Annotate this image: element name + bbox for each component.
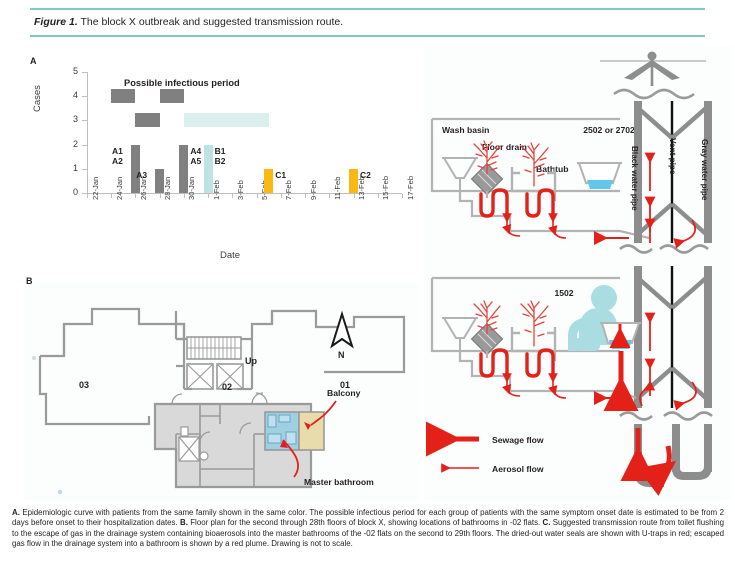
- wall-outline-lower-left: [40, 356, 149, 424]
- x-tick: [208, 194, 209, 198]
- y-tick: [82, 145, 87, 146]
- vent-pipe-label: Vent pipe: [668, 138, 677, 175]
- wash-basin-icon: [442, 158, 478, 191]
- case-bar: [179, 145, 188, 193]
- x-tick: [402, 194, 403, 198]
- title-rule-bottom: [30, 35, 705, 37]
- infectious-period-bar: [160, 89, 184, 103]
- break-squiggle-upper-left: [620, 246, 652, 253]
- infectious-period-bar: [184, 113, 269, 127]
- upper-unit-number: 2502 or 2702: [583, 125, 635, 135]
- y-tick-label: 1: [64, 163, 78, 173]
- aerosol-plume-upper-tub: [521, 143, 548, 186]
- y-axis-title: Cases: [32, 85, 43, 112]
- case-bar: [264, 169, 273, 193]
- wall-outline-upper-right: [252, 311, 404, 372]
- figure-title: Figure 1. The block X outbreak and sugge…: [34, 13, 694, 31]
- flat-label-02: 02: [222, 382, 232, 392]
- stair-up-label: Up: [245, 356, 257, 366]
- x-tick: [329, 194, 330, 198]
- y-tick: [82, 72, 87, 73]
- x-tick: [184, 194, 185, 198]
- caption-tag-a: A.: [12, 508, 20, 517]
- x-tick-label: 15-Feb: [381, 176, 390, 200]
- u-trap-lower-1: [481, 350, 507, 376]
- roof-vent-icon: [600, 52, 706, 99]
- gray-to-vent-aerosol-lower: [680, 382, 696, 404]
- y-tick-label: 0: [64, 187, 78, 197]
- y-axis: [87, 72, 88, 194]
- caption-text-b: Floor plan for the second through 28th f…: [188, 518, 543, 527]
- pipe-stacks: Black water pipe Vent pipe Gray water pi…: [620, 101, 712, 420]
- corner-dot-left: [32, 356, 36, 360]
- y-tick: [82, 169, 87, 170]
- case-bar-label: A1A2: [112, 146, 123, 166]
- north-label: N: [338, 350, 345, 360]
- flat-label-03: 03: [79, 380, 89, 390]
- case-bar: [155, 169, 164, 193]
- x-axis-title: Date: [220, 250, 240, 261]
- floor-plan-svg: Up N: [24, 284, 420, 500]
- x-tick: [378, 194, 379, 198]
- x-tick: [305, 194, 306, 198]
- x-tick: [281, 194, 282, 198]
- x-tick: [135, 194, 136, 198]
- x-tick-label: 28-Jan: [163, 177, 172, 200]
- x-tick-label: 1-Feb: [212, 180, 221, 200]
- figure-number: Figure 1.: [34, 16, 78, 28]
- y-tick: [82, 96, 87, 97]
- corner-dot-bottom: [58, 490, 62, 494]
- y-tick-label: 5: [64, 66, 78, 76]
- stair-core: [184, 337, 252, 389]
- epi-chart-plot: Cases Date Possible infectious period 01…: [24, 64, 414, 264]
- wall-outline-upper-left: [40, 309, 184, 356]
- black-water-pipe-lower: [634, 266, 642, 408]
- wash-basin-icon-lower: [442, 318, 478, 351]
- x-tick-label: 22-Jan: [91, 177, 100, 200]
- black-water-pipe-label: Black water pipe: [630, 146, 639, 211]
- u-trap-lower-2: [527, 350, 553, 376]
- x-tick-label: 30-Jan: [187, 177, 196, 200]
- infectious-period-bar: [111, 89, 135, 103]
- balcony-annotation-label: Balcony: [327, 388, 361, 398]
- lower-unit-number: 1502: [554, 288, 573, 298]
- upper-unit: Wash basin 2502 or 2702 Floor drain Bath…: [432, 119, 649, 238]
- case-bar: [131, 145, 140, 193]
- x-tick-label: 11-Feb: [333, 177, 342, 201]
- x-tick: [160, 194, 161, 198]
- figure-container: Figure 1. The block X outbreak and sugge…: [0, 0, 735, 566]
- lower-branch-aerosol-arrows: [507, 378, 566, 398]
- floor-drain-label: Floor drain: [482, 142, 527, 152]
- x-tick-label: 7-Feb: [284, 180, 293, 200]
- infectious-period-title: Possible infectious period: [124, 78, 240, 88]
- x-tick: [87, 194, 88, 198]
- break-squiggle-lower-left: [620, 413, 652, 420]
- x-tick-label: 26-Jan: [139, 177, 148, 200]
- gray-water-pipe-lower: [704, 266, 712, 408]
- x-tick: [257, 194, 258, 198]
- case-bar-label: C2: [360, 170, 371, 180]
- case-bar-label: B1B2: [215, 146, 226, 166]
- panel-a-epi-curve: Cases Date Possible infectious period 01…: [24, 64, 414, 264]
- y-tick-label: 3: [64, 114, 78, 124]
- x-tick: [232, 194, 233, 198]
- case-bar: [204, 145, 213, 193]
- figure-title-text: The block X outbreak and suggested trans…: [78, 16, 343, 28]
- sewage-flow-label: Sewage flow: [492, 435, 544, 445]
- riser-svg: Wash basin 2502 or 2702 Floor drain Bath…: [424, 46, 732, 500]
- caption-tag-b: B.: [180, 518, 188, 527]
- infectious-period-bar: [135, 113, 159, 127]
- aerosol-flow-label: Aerosol flow: [492, 464, 544, 474]
- x-tick-label: 17-Feb: [406, 176, 415, 200]
- upper-branch-aerosol-arrows: [507, 218, 566, 238]
- title-rule-top: [30, 8, 705, 10]
- y-tick-label: 4: [64, 90, 78, 100]
- break-squiggle-lower-right: [664, 413, 712, 420]
- case-bar-label: A3: [136, 170, 147, 180]
- wash-basin-label: Wash basin: [442, 125, 489, 135]
- basement-pipes: [634, 424, 712, 487]
- toilet-icon: [577, 163, 622, 189]
- aerosol-plume-lower-tub: [521, 301, 548, 346]
- x-tick: [354, 194, 355, 198]
- case-bar: [349, 169, 358, 193]
- master-bathroom-annotation-label: Master bathroom: [304, 477, 374, 487]
- y-tick-label: 2: [64, 139, 78, 149]
- case-bar-label: A4A5: [190, 146, 201, 166]
- figure-caption: A. Epidemiologic curve with patients fro…: [12, 508, 724, 550]
- case-bar-label: C1: [275, 170, 286, 180]
- x-tick-label: 24-Jan: [115, 177, 124, 200]
- break-squiggle-upper-right: [660, 246, 708, 253]
- x-tick-label: 3-Feb: [236, 180, 245, 200]
- north-arrow-icon: [332, 314, 352, 346]
- u-trap-upper-1: [481, 190, 507, 216]
- master-bathroom-area: [265, 412, 324, 450]
- gray-water-pipe-label: Gray water pipe: [700, 139, 709, 201]
- u-trap-upper-2: [527, 190, 553, 216]
- x-tick-label: 9-Feb: [309, 180, 318, 200]
- panel-b-floor-plan: Up N: [24, 284, 420, 500]
- x-tick: [111, 194, 112, 198]
- gray-to-vent-aerosol-upper: [680, 220, 695, 242]
- panel-c-riser-diagram: Wash basin 2502 or 2702 Floor drain Bath…: [424, 46, 732, 500]
- flow-legend: Sewage flow Aerosol flow: [446, 435, 544, 474]
- y-tick: [82, 120, 87, 121]
